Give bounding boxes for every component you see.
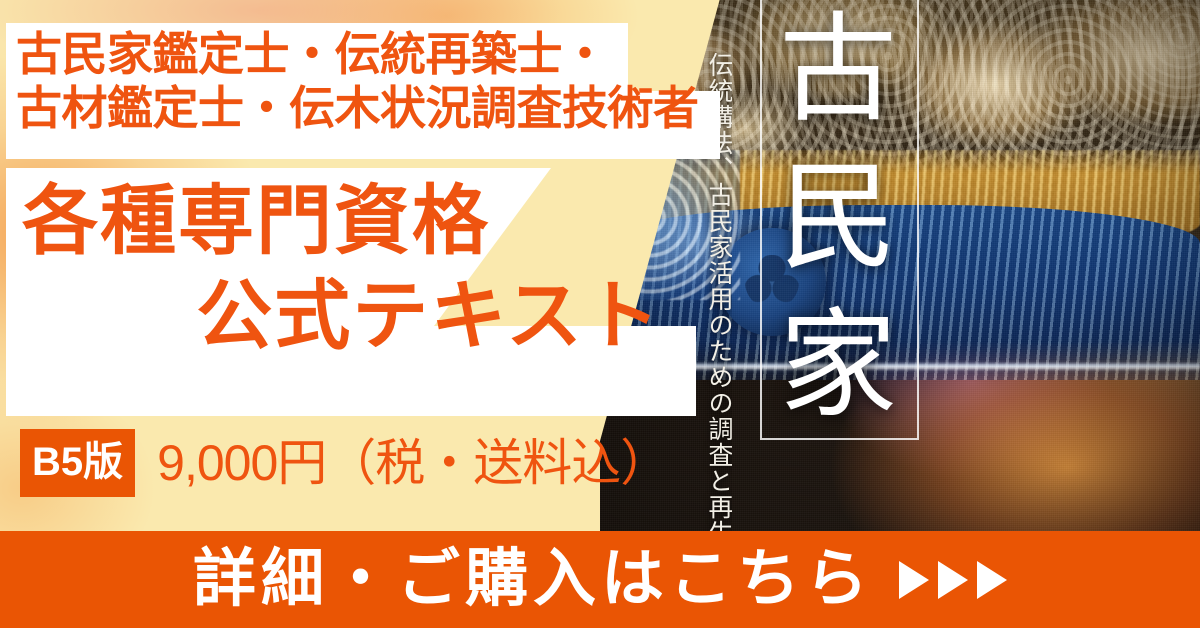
main-title-line-1: 各種専門資格 (0, 174, 676, 269)
headline-text: 古民家鑑定士・伝統再築士・ 古材鑑定士・伝木状況調査技術者 (16, 28, 716, 136)
cta-arrows (899, 561, 1007, 599)
headline-line-2: 古材鑑定士・伝木状況調査技術者 (16, 82, 716, 136)
chevron-right-icon (938, 561, 968, 599)
main-title-text: 各種専門資格 公式テキスト (0, 174, 676, 364)
cover-title-vertical: 古 民 家 (768, 6, 908, 436)
chevron-right-icon (899, 561, 929, 599)
cover-title-char-3: 家 (779, 308, 897, 426)
chevron-right-icon (977, 561, 1007, 599)
cta-bar[interactable]: 詳細・ご購入はこちら (0, 531, 1200, 628)
price-row: B5版 9,000円（税・送料込） (20, 430, 669, 496)
headline-line-1: 古民家鑑定士・伝統再築士・ (16, 28, 716, 82)
format-badge: B5版 (20, 429, 135, 497)
cover-title-char-1: 古 (779, 12, 897, 130)
promo-banner: 古 民 家 伝統構法、古民家活用のための調査と再生の 古民家鑑定士・伝統再築士・… (0, 0, 1200, 628)
cover-title-char-2: 民 (779, 160, 897, 278)
cta-label: 詳細・ご購入はこちら (193, 548, 873, 611)
price-label: 9,000円（税・送料込） (157, 438, 669, 488)
main-title-line-2: 公式テキスト (0, 269, 676, 364)
